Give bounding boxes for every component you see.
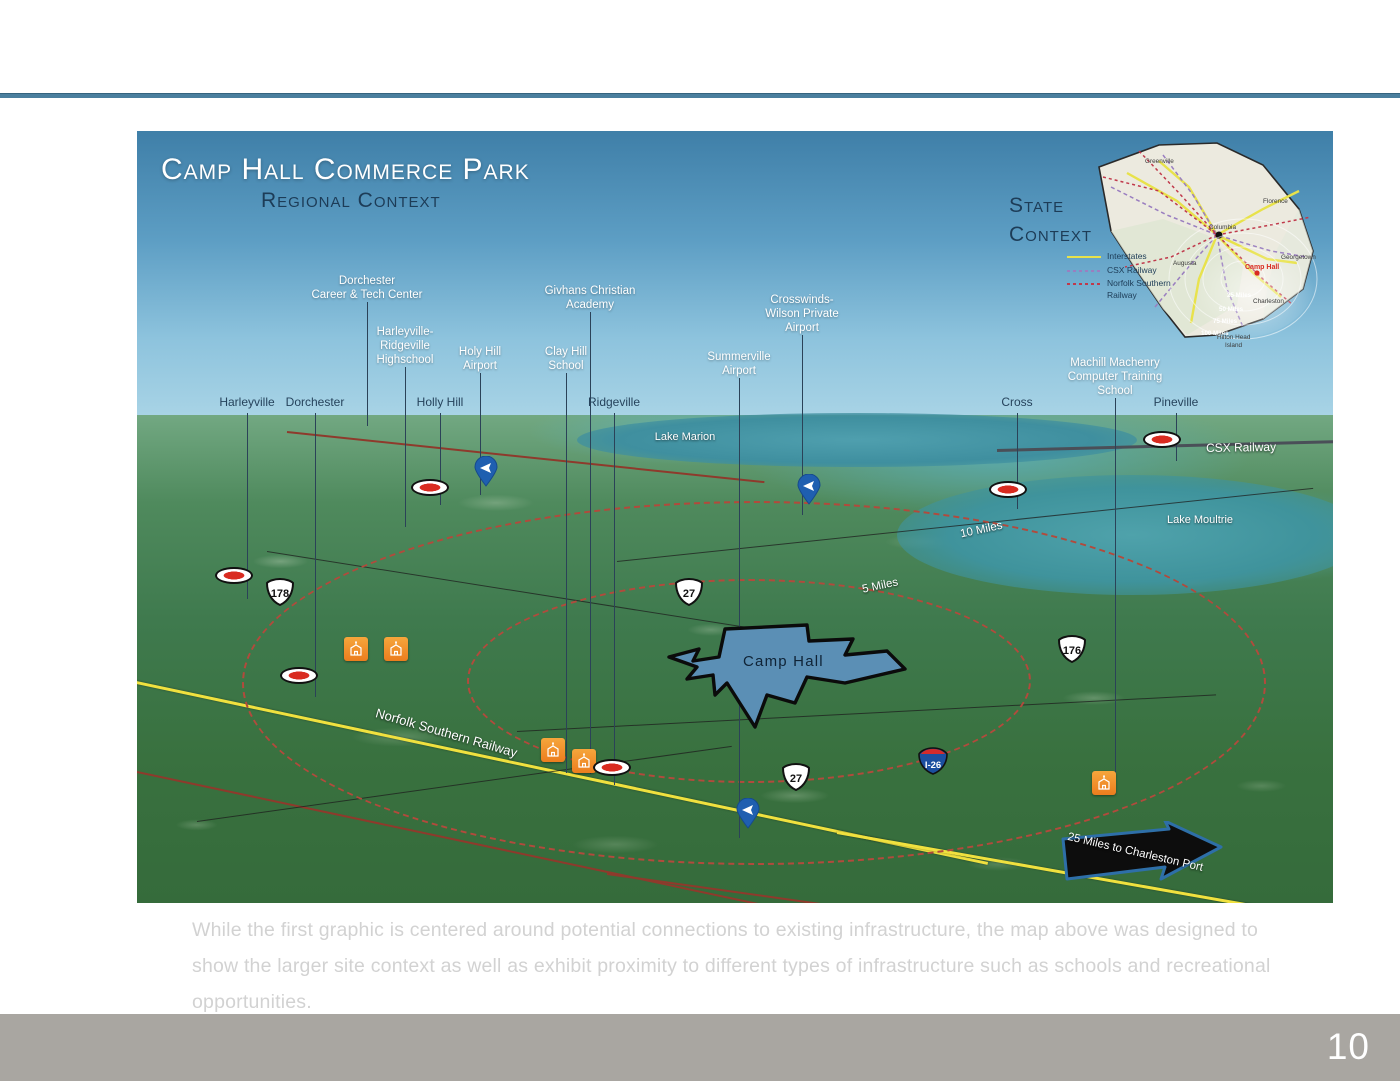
town-label-5: Cross [947,395,1087,409]
rail-label-1: CSX Railway [1206,440,1276,455]
water-label-1: Lake Marion [635,430,735,444]
callout-leader-4 [566,373,567,773]
school-marker-2[interactable] [384,637,408,661]
svg-text:Columbia: Columbia [1209,224,1236,231]
svg-text:Georgetown: Georgetown [1281,254,1316,261]
svg-text:50 Miles: 50 Miles [1219,306,1244,313]
highway-shield-I26-5[interactable]: I-26 [917,747,949,775]
svg-text:75 Miles: 75 Miles [1213,318,1238,325]
callout-label-5: Givhans Christian Academy [510,284,670,312]
town-marker-2 [280,667,318,684]
callout-leader-5 [590,312,591,774]
callout-label-6: Summerville Airport [659,350,819,378]
water-label-2: Lake Moultrie [1150,513,1250,527]
school-marker-3[interactable] [541,738,565,762]
callout-leader-8 [1115,398,1116,794]
svg-text:27: 27 [790,773,802,785]
legend-row-norfolk-southern: Norfolk Southern Railway [1067,278,1181,301]
map-subtitle: Regional Context [261,189,441,213]
svg-text:25 Miles: 25 Miles [1227,292,1252,299]
town-marker-4 [593,759,631,776]
callout-label-7: Crosswinds- Wilson Private Airport [722,293,882,335]
town-marker-1 [215,567,253,584]
callout-leader-2 [405,367,406,527]
town-leader-4 [614,413,615,785]
regional-context-map: Camp Hall Commerce Park Regional Context… [137,131,1333,903]
svg-text:Florence: Florence [1263,198,1288,205]
csx-swatch-icon [1067,270,1101,272]
svg-text:Hilton Head: Hilton Head [1217,334,1251,341]
highway-shield-178-1[interactable]: 178 [265,578,295,606]
town-marker-5 [989,481,1027,498]
interstates-swatch-icon [1067,256,1101,258]
page-footer-bar [0,1014,1400,1081]
airport-marker-1[interactable] [473,456,499,487]
callout-label-1: Dorchester Career & Tech Center [287,274,447,302]
norfolk-southern-swatch-icon [1067,283,1101,285]
page-top-rule [0,93,1400,98]
highway-shield-27-2[interactable]: 27 [674,578,704,606]
town-label-4: Ridgeville [544,395,684,409]
svg-text:Camp Hall: Camp Hall [1245,264,1279,271]
svg-text:I-26: I-26 [925,760,941,771]
legend-row-csx: CSX Railway [1067,265,1181,277]
svg-text:178: 178 [271,588,289,600]
callout-leader-6 [739,378,740,838]
map-title: Camp Hall Commerce Park [161,153,530,187]
norfolk-southern-label: Norfolk Southern Railway [1107,278,1181,301]
callout-label-4: Clay Hill School [486,345,646,373]
csx-label: CSX Railway [1107,265,1157,277]
town-label-2: Dorchester [245,395,385,409]
school-marker-4[interactable] [572,749,596,773]
school-marker-5[interactable] [1092,771,1116,795]
figure-caption: While the first graphic is centered arou… [192,912,1282,1020]
highway-shield-27-4[interactable]: 27 [781,763,811,791]
airport-marker-2[interactable] [796,474,822,505]
page-number: 10 [1327,1026,1370,1068]
legend-row-interstates: Interstates [1067,251,1181,263]
state-context-inset-map: 25 Miles 50 Miles 75 Miles 100 Miles Cam… [1067,139,1331,349]
interstates-label: Interstates [1107,251,1147,263]
callout-label-8: Machill Machenry Computer Training Schoo… [1035,356,1195,398]
svg-text:27: 27 [683,588,695,600]
svg-text:176: 176 [1063,645,1081,657]
highway-shield-176-3[interactable]: 176 [1057,635,1087,663]
state-context-legend: Interstates CSX Railway Norfolk Southern… [1067,251,1181,303]
camp-hall-label: Camp Hall [743,653,824,670]
svg-text:Island: Island [1225,342,1242,349]
town-marker-3 [411,479,449,496]
svg-text:Greenville: Greenville [1145,158,1174,165]
airport-marker-3[interactable] [735,798,761,829]
town-leader-2 [315,413,316,697]
svg-text:Charleston: Charleston [1253,298,1284,305]
town-marker-6 [1143,431,1181,448]
town-label-6: Pineville [1106,395,1246,409]
camp-hall-site-polygon[interactable] [657,621,917,731]
town-label-3: Holly Hill [370,395,510,409]
school-marker-1[interactable] [344,637,368,661]
